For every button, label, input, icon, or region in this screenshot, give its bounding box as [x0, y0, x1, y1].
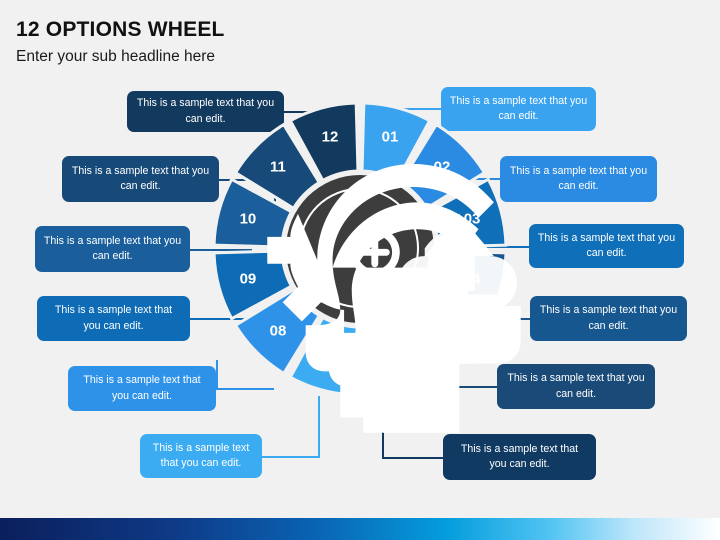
footer-gradient-bar — [0, 518, 720, 540]
wheel-hub — [286, 175, 434, 323]
page-title: 12 OPTIONS WHEEL — [16, 18, 225, 42]
callout-box-10[interactable]: This is a sample text that you can edit. — [35, 226, 190, 272]
callout-text-09: This is a sample text that you can edit. — [45, 303, 182, 333]
callout-text-10: This is a sample text that you can edit. — [43, 234, 182, 264]
head-brain-puzzle-icon — [320, 209, 400, 289]
slide-canvas: 12 OPTIONS WHEEL Enter your sub headline… — [0, 0, 720, 540]
options-wheel: 010203040506070809101112 — [286, 175, 434, 323]
